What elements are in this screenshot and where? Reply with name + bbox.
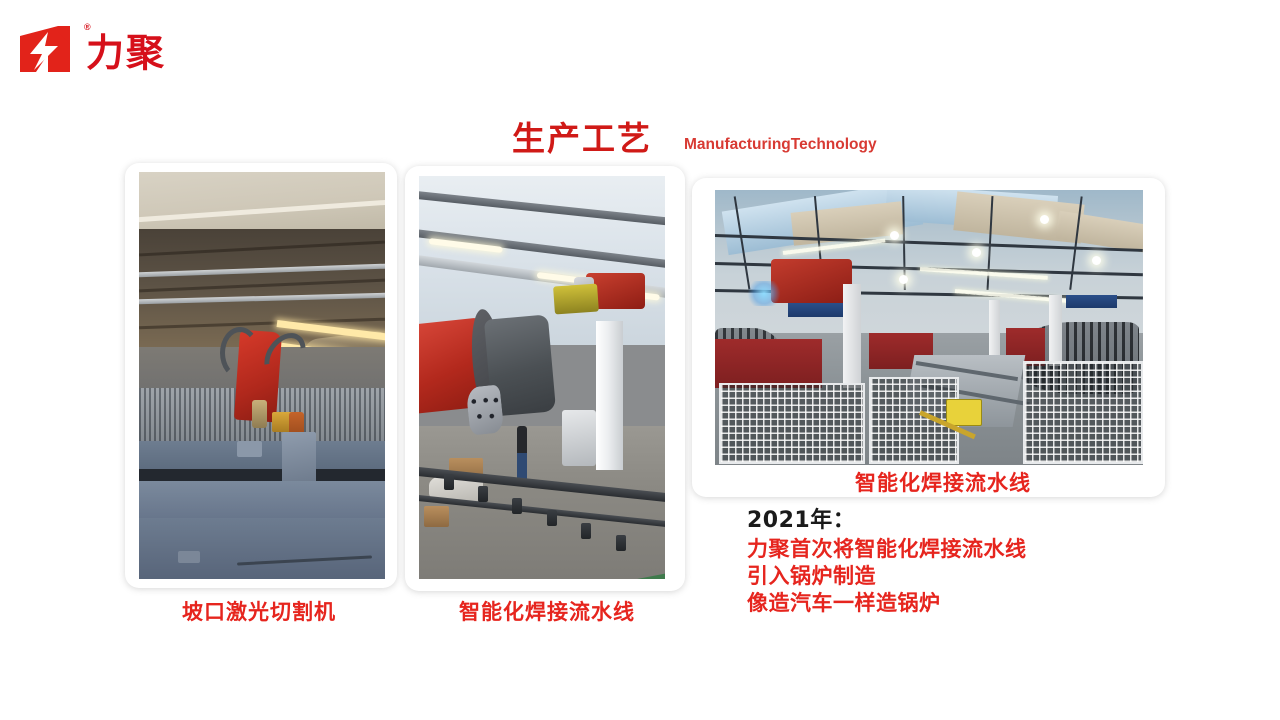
brand-name: 力聚 [86, 32, 166, 74]
photo2-rail-tie [616, 535, 626, 551]
photo-welding-production-line [715, 190, 1143, 465]
photo-caption-2: 智能化焊接流水线 [459, 596, 635, 626]
photo1-bed-block [237, 441, 262, 457]
note-line-2: 引入锅炉制造 [747, 563, 1167, 590]
photo3-red-partition [715, 339, 822, 389]
photo3-safety-fence [719, 383, 864, 464]
photo2-support-column [596, 321, 623, 470]
photo3-safety-fence [1023, 361, 1143, 464]
photo2-robot-arm [553, 283, 599, 314]
photo2-rail-tie [512, 498, 522, 514]
photo3-ceiling-lamp [1092, 256, 1101, 265]
photo2-rail-tie [581, 523, 591, 539]
photo2-rail-tie [444, 474, 454, 490]
photo1-hose [220, 327, 260, 379]
note-line-3: 像造汽车一样造锅炉 [747, 590, 1167, 617]
photo3-banner [1066, 295, 1117, 309]
photo-caption-1: 坡口激光切割机 [182, 596, 336, 626]
photo3-ceiling-lamp [1040, 215, 1049, 224]
photo3-welding-arc [745, 281, 784, 306]
photo1-bed-mid [139, 481, 385, 522]
page-subtitle: ManufacturingTechnology [684, 136, 877, 154]
photo2-rail-tie [547, 510, 557, 526]
photo3-column [1049, 295, 1062, 367]
year-note-block: 2021年： 力聚首次将智能化焊接流水线 引入锅炉制造 像造汽车一样造锅炉 [747, 506, 1167, 617]
brand-logo: ® 力聚 [18, 18, 278, 80]
photo1-bed-foot [178, 551, 200, 563]
photo2-tube-sheet [466, 384, 505, 436]
photo3-column [843, 284, 860, 389]
photo1-bed-lower [139, 518, 385, 579]
photo3-warning-sign [946, 399, 982, 426]
photo2-worker [517, 426, 527, 482]
note-line-1: 力聚首次将智能化焊接流水线 [747, 536, 1167, 563]
photo-caption-3: 智能化焊接流水线 [855, 467, 1031, 497]
page-title: 生产工艺 [512, 112, 652, 160]
photo-welding-line-positioner [419, 176, 665, 579]
photo2-rail-tie [478, 486, 488, 502]
photo2-background-machine [562, 410, 596, 466]
photo1-nozzle [252, 400, 267, 428]
photo3-banner [788, 303, 844, 317]
photo3-ceiling-lamp [972, 248, 981, 257]
photo-bevel-laser-cutter [139, 172, 385, 579]
photo2-crate [424, 506, 449, 526]
note-year: 2021年： [747, 506, 1167, 536]
lightning-bolt-logo-icon [18, 24, 80, 74]
